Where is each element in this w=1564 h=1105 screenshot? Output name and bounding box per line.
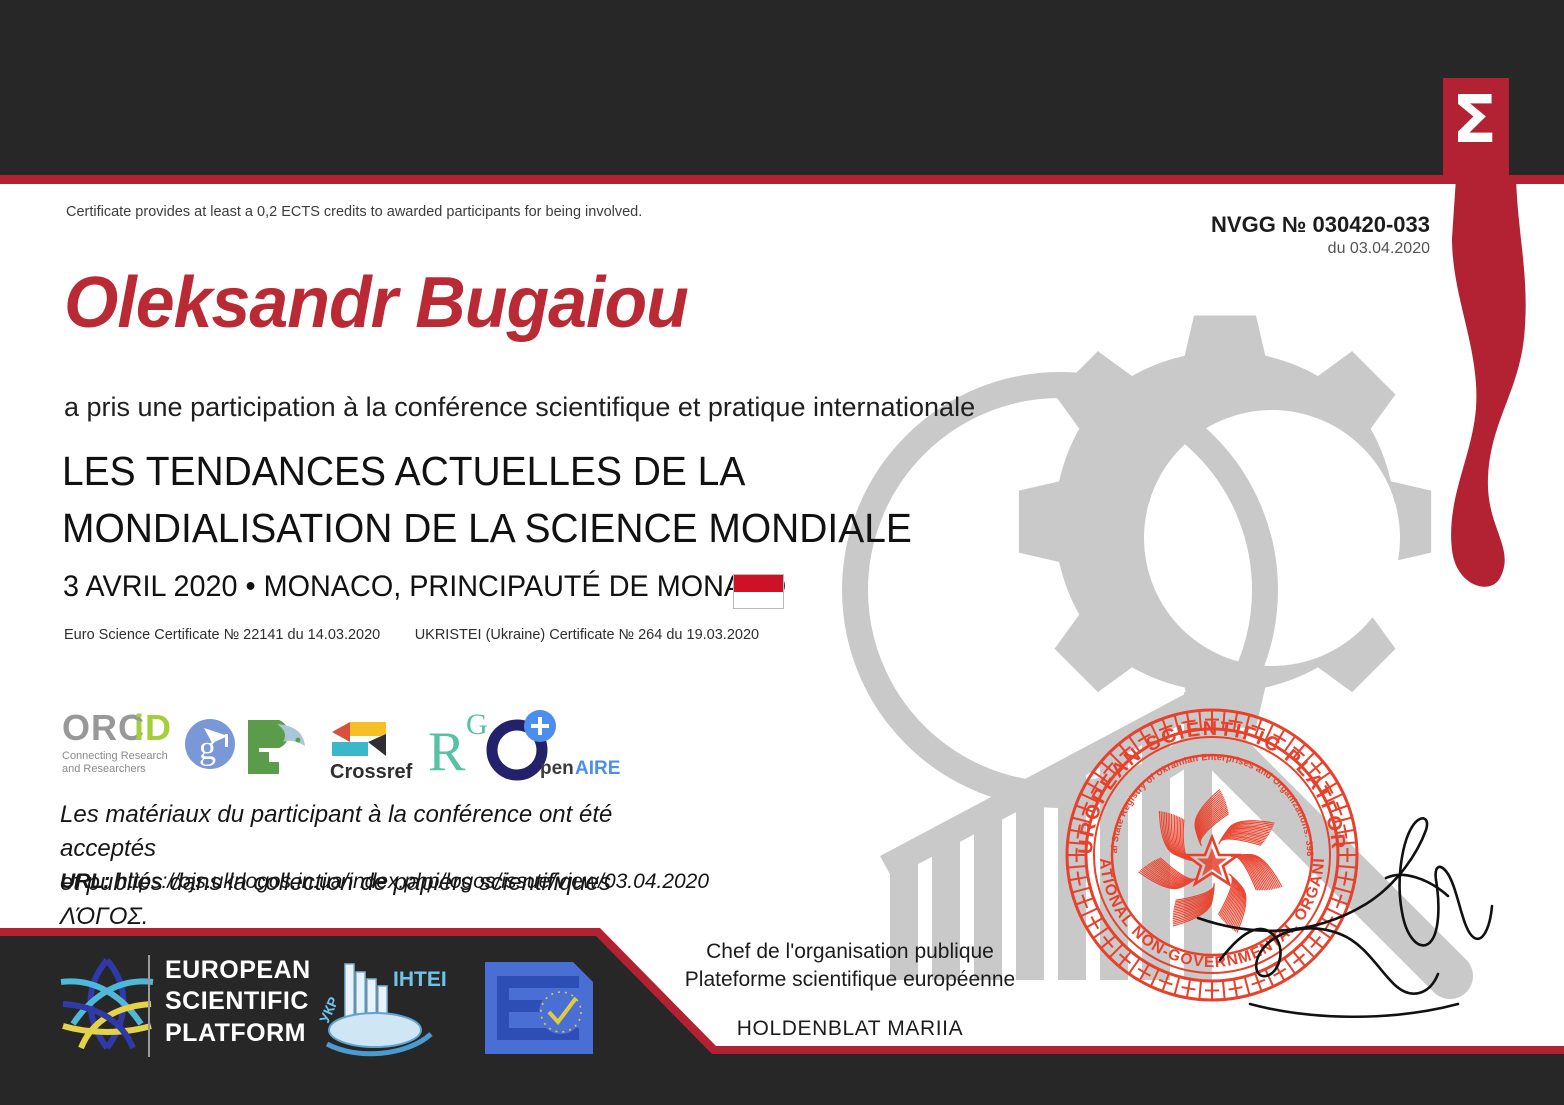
svg-text:pen: pen	[540, 758, 574, 779]
ec-conformity-logo	[485, 962, 593, 1054]
publication-accepted-note: Les matériaux du participant à la confér…	[60, 798, 680, 934]
logos-sigma-letter: Σ	[1452, 87, 1497, 153]
svg-text:R: R	[428, 721, 466, 783]
sub-certificate-euro-science: Euro Science Certificate № 22141 du 14.0…	[64, 627, 380, 643]
indexing-logos-row: ORC iD Connecting Research and Researche…	[62, 702, 622, 788]
svg-text:iD: iD	[134, 707, 172, 748]
footer-logos-row: ІНТЕІ УКР	[45, 952, 605, 1062]
flag-stripe-white	[734, 592, 783, 609]
svg-text:AIRE: AIRE	[575, 758, 620, 779]
registration-number: NVGG № 030420-033	[1211, 212, 1430, 238]
registration-date: du 03.04.2020	[1328, 240, 1430, 258]
ukrintei-logo: ІНТЕІ УКР	[316, 964, 447, 1054]
svg-text:ІНТЕІ: ІНТЕІ	[393, 968, 447, 991]
flag-stripe-red	[734, 575, 783, 592]
ects-note: Certificate provides at least a 0,2 ECTS…	[66, 204, 642, 220]
svg-text:Connecting Research: Connecting Research	[62, 750, 168, 762]
org-name-line-3: PLATFORM	[165, 1018, 311, 1049]
researchgate-logo: R G	[428, 708, 488, 783]
publication-url-row: URL: https://ojs.ukrlogos.in.ua/index.ph…	[60, 870, 709, 894]
svg-text:ORC: ORC	[62, 707, 145, 748]
openaire-logo: pen AIRE	[492, 710, 620, 779]
header-bar	[0, 0, 1564, 175]
signer-role-line-1: Chef de l'organisation publique	[640, 938, 1060, 966]
participation-line: a pris une participation à la conférence…	[64, 392, 975, 423]
researchbib-logo	[248, 720, 305, 774]
european-scientific-platform-logo	[61, 960, 153, 1048]
signer-role-line-2: Plateforme scientifique européenne	[640, 966, 1060, 994]
conference-date-place: 3 AVRIL 2020 • MONACO, PRINCIPAUTÉ DE MO…	[63, 570, 786, 604]
orcid-logo: ORC iD Connecting Research and Researche…	[62, 707, 172, 775]
svg-text:G: G	[466, 708, 488, 741]
red-ribbon-decoration	[1438, 178, 1564, 590]
handwritten-signature	[1190, 808, 1520, 1048]
signer-name: HOLDENBLAT MARIIA	[640, 1017, 1060, 1041]
monaco-flag-icon	[733, 574, 784, 609]
signature-block: Chef de l'organisation publique Platefor…	[640, 938, 1060, 1041]
svg-text:and Researchers: and Researchers	[62, 763, 146, 775]
svg-text:Crossref: Crossref	[330, 761, 413, 783]
header-red-rule	[0, 175, 1564, 184]
certificate-page: CERTIFICAT DE PARTICIPANT ΛΌΓΟ	[0, 0, 1564, 1105]
conference-title-line-1: LES TENDANCES ACTUELLES DE LA	[62, 443, 1012, 500]
crossref-logo: Crossref	[330, 722, 413, 783]
url-label: URL:	[60, 870, 110, 893]
accepted-line-1: Les matériaux du participant à la confér…	[60, 798, 680, 866]
org-name-line-2: SCIENTIFIC	[165, 986, 311, 1017]
google-scholar-logo: g	[185, 719, 235, 769]
sub-certificate-ukristei: UKRISTEI (Ukraine) Certificate № 264 du …	[415, 627, 759, 643]
conference-title: LES TENDANCES ACTUELLES DE LA MONDIALISA…	[62, 443, 1012, 556]
conference-title-line-2: MONDIALISATION DE LA SCIENCE MONDIALE	[62, 500, 1012, 557]
url-value[interactable]: https://ojs.ukrlogos.in.ua/index.php/log…	[116, 870, 709, 893]
recipient-name: Oleksandr Bugaiou	[64, 262, 688, 344]
footer-divider	[148, 955, 150, 1057]
footer-organisation-name: EUROPEAN SCIENTIFIC PLATFORM	[165, 955, 311, 1049]
org-name-line-1: EUROPEAN	[165, 955, 311, 986]
sub-certificates: Euro Science Certificate № 22141 du 14.0…	[64, 626, 759, 644]
